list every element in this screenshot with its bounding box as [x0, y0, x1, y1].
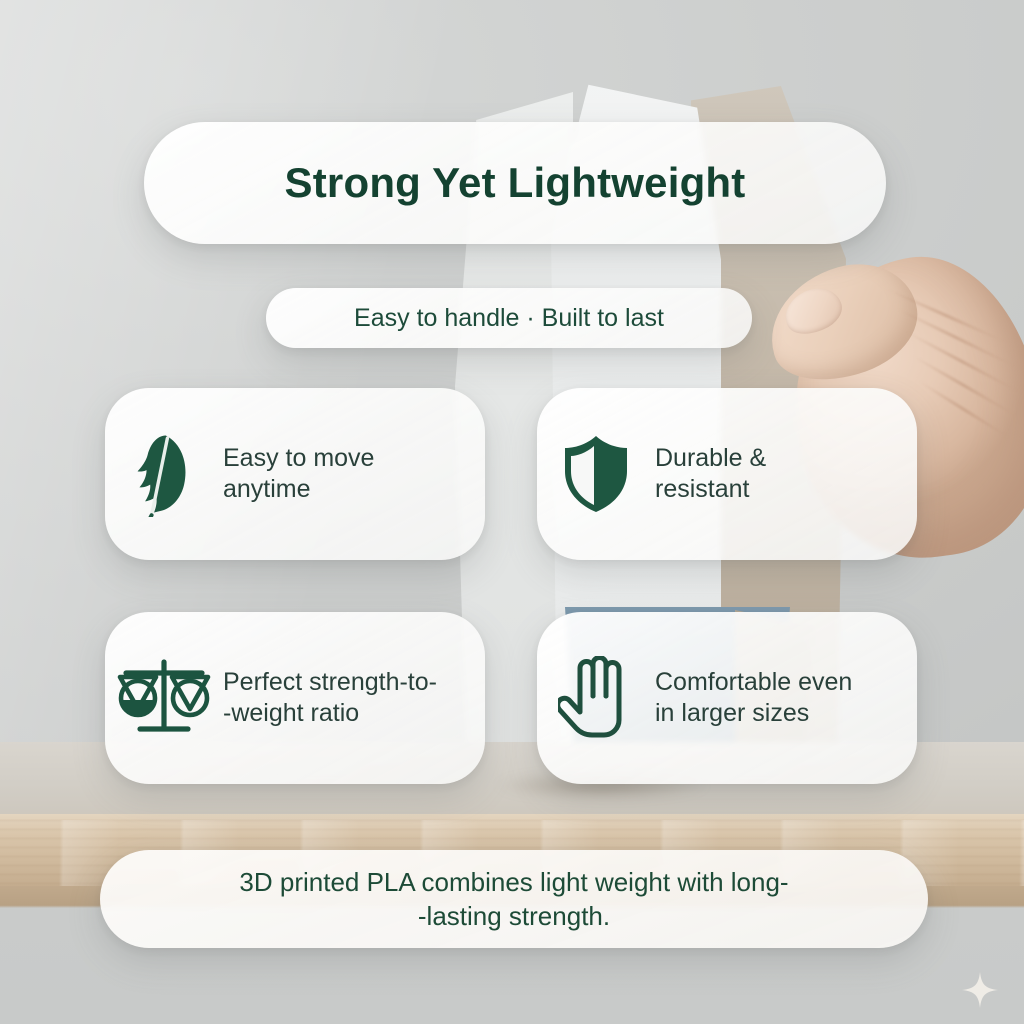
page-title: Strong Yet Lightweight [285, 159, 746, 207]
caption-line2: -lasting strength. [164, 899, 864, 933]
feature-card-easy-to-move[interactable]: Easy to move anytime [105, 388, 485, 560]
feature-card-strength-to-weight[interactable]: Perfect strength-to- -weight ratio [105, 612, 485, 784]
title-card: Strong Yet Lightweight [144, 122, 886, 244]
sparkle-icon [962, 972, 998, 1008]
feature-label: Durable & resistant [655, 443, 782, 506]
feature-label-line1: Easy to move [223, 444, 374, 472]
feature-label-line1: Perfect strength-to- [223, 668, 437, 696]
hand-icon [537, 612, 655, 784]
subtitle-text: Easy to handle · Built to last [354, 304, 664, 333]
infographic-stage: Strong Yet Lightweight Easy to handle · … [0, 0, 1024, 1024]
feature-label-line1: Comfortable even [655, 668, 852, 696]
feature-card-durable[interactable]: Durable & resistant [537, 388, 917, 560]
feature-label-line1: Durable & [655, 444, 766, 472]
feature-label: Comfortable even in larger sizes [655, 667, 868, 730]
scales-icon [105, 612, 223, 784]
caption-pill: 3D printed PLA combines light weight wit… [100, 850, 928, 948]
feature-label-line2: anytime [223, 475, 311, 503]
feather-icon [105, 388, 223, 560]
feature-label: Perfect strength-to- -weight ratio [223, 667, 453, 730]
shield-icon [537, 388, 655, 560]
feature-label: Easy to move anytime [223, 443, 390, 506]
caption-text: 3D printed PLA combines light weight wit… [164, 865, 864, 934]
caption-line1: 3D printed PLA combines light weight wit… [239, 867, 788, 897]
feature-label-line2: in larger sizes [655, 699, 809, 727]
feature-card-comfortable[interactable]: Comfortable even in larger sizes [537, 612, 917, 784]
feature-label-line2: -weight ratio [223, 699, 359, 727]
subtitle-pill: Easy to handle · Built to last [266, 288, 752, 348]
feature-label-line2: resistant [655, 475, 749, 503]
